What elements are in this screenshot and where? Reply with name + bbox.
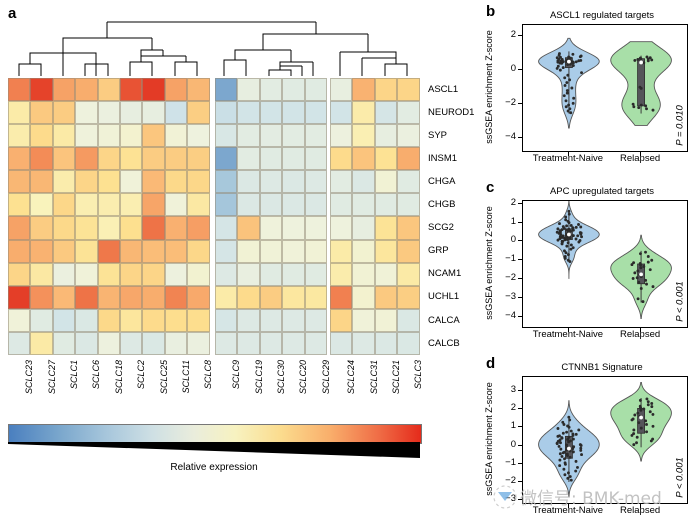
y-axis-tick-label: −2 (496, 273, 516, 283)
data-point (575, 60, 578, 63)
data-point (569, 236, 572, 239)
heatmap-cell (53, 309, 75, 332)
heatmap-cell (260, 193, 282, 216)
data-point (563, 76, 566, 79)
data-point (564, 84, 567, 87)
heatmap-column (75, 78, 97, 355)
data-point (565, 431, 568, 434)
data-point (579, 233, 582, 236)
heatmap-cell (375, 286, 397, 309)
data-point (567, 253, 570, 256)
data-point (565, 99, 568, 102)
data-point (569, 456, 572, 459)
data-point (576, 466, 579, 469)
data-point (556, 442, 559, 445)
data-point (632, 429, 635, 432)
y-axis-tick-label: 0 (496, 235, 516, 245)
colorbar-gradient (8, 424, 422, 444)
panel-b-pvalue: P = 0.010 (675, 96, 686, 156)
data-point (566, 453, 569, 456)
heatmap-cell (142, 309, 164, 332)
sample-label: SCLC1 (69, 360, 79, 389)
heatmap-cell (352, 309, 374, 332)
data-point (575, 433, 578, 436)
heatmap-cell (30, 101, 52, 124)
data-point (571, 433, 574, 436)
panel-c-ylabel: ssGSEA enrichment Z-score (484, 198, 494, 328)
heatmap-cell (282, 193, 304, 216)
heatmap-column (260, 78, 282, 355)
data-point (642, 408, 645, 411)
heatmap-cell (187, 332, 209, 355)
data-point (565, 443, 568, 446)
heatmap-cell (305, 309, 327, 332)
heatmap-cell (187, 263, 209, 286)
y-axis-tick-label: −1 (496, 254, 516, 264)
heatmap-cell (30, 147, 52, 170)
sample-label: SCLC23 (24, 360, 34, 394)
heatmap-cell (215, 240, 237, 263)
heatmap-cell (142, 78, 164, 101)
y-axis-tick (518, 240, 522, 241)
heatmap-cell (30, 332, 52, 355)
data-point (571, 53, 574, 56)
data-point (571, 447, 574, 450)
heatmap-cell (98, 332, 120, 355)
heatmap-cell (397, 124, 419, 147)
dendrogram (0, 10, 430, 78)
y-axis-tick-label: −2 (496, 476, 516, 486)
x-axis-tick (640, 504, 641, 508)
heatmap-cell (375, 101, 397, 124)
data-point (649, 410, 652, 413)
heatmap-cell (330, 216, 352, 239)
heatmap-cell (375, 170, 397, 193)
median-marker (567, 60, 571, 64)
heatmap-cell (165, 332, 187, 355)
heatmap-cell (260, 170, 282, 193)
heatmap-column (142, 78, 164, 355)
heatmap-cell (305, 332, 327, 355)
sample-label: SCLC21 (391, 360, 401, 394)
data-point (572, 438, 575, 441)
heatmap-cell (397, 216, 419, 239)
heatmap-cell (8, 263, 30, 286)
data-point (645, 283, 648, 286)
data-point (572, 61, 575, 64)
sample-label: SCLC6 (91, 360, 101, 389)
data-point (576, 234, 579, 237)
data-point (568, 418, 571, 421)
heatmap-cell (120, 332, 142, 355)
heatmap-cell (330, 78, 352, 101)
data-point (633, 414, 636, 417)
heatmap-cell (120, 216, 142, 239)
heatmap-cell (98, 286, 120, 309)
heatmap-cell (215, 170, 237, 193)
y-axis-tick-label: 1 (496, 421, 516, 431)
sample-label: SCLC11 (181, 360, 191, 393)
heatmap-cell (305, 147, 327, 170)
data-point (639, 263, 642, 266)
x-axis-tick (568, 152, 569, 156)
median-marker (567, 233, 571, 237)
y-axis-tick-label: 2 (496, 198, 516, 208)
y-axis-tick (518, 69, 522, 70)
data-point (563, 451, 566, 454)
sample-label: SCLC31 (369, 360, 379, 394)
heatmap-cell (187, 240, 209, 263)
data-point (579, 226, 582, 229)
sample-label: SCLC18 (114, 360, 124, 394)
heatmap-cell (330, 124, 352, 147)
heatmap-cell (375, 332, 397, 355)
colorbar-caption: Relative expression (8, 462, 420, 473)
heatmap-cell (165, 240, 187, 263)
data-point (580, 55, 583, 58)
heatmap-cell (120, 147, 142, 170)
heatmap-cell (375, 78, 397, 101)
heatmap-cell (397, 263, 419, 286)
heatmap-column (352, 78, 374, 355)
panel-d-violin: d CTNNB1 Signature ssGSEA enrichment Z-s… (480, 352, 694, 529)
heatmap-cell (330, 286, 352, 309)
heatmap-cell (75, 101, 97, 124)
heatmap-cell (98, 240, 120, 263)
heatmap-cell (215, 216, 237, 239)
heatmap-cell (237, 124, 259, 147)
sample-label: SCLC9 (231, 360, 241, 389)
heatmap-cell (120, 170, 142, 193)
heatmap-cell (305, 101, 327, 124)
heatmap-cell (375, 216, 397, 239)
heatmap-cell (397, 101, 419, 124)
heatmap-cell (165, 124, 187, 147)
y-axis-tick (518, 445, 522, 446)
median-marker (639, 61, 643, 65)
heatmap-cell (142, 216, 164, 239)
heatmap-cell (187, 309, 209, 332)
data-point (569, 475, 572, 478)
heatmap-cell (330, 193, 352, 216)
heatmap-cell (282, 263, 304, 286)
heatmap-cell (260, 240, 282, 263)
heatmap-cell (215, 193, 237, 216)
data-point (570, 244, 573, 247)
data-point (565, 81, 568, 84)
data-point (568, 78, 571, 81)
heatmap-cell (165, 286, 187, 309)
heatmap-cell (98, 193, 120, 216)
y-axis-tick (518, 35, 522, 36)
y-axis-tick (518, 390, 522, 391)
heatmap-cell (142, 240, 164, 263)
data-point (561, 455, 564, 458)
data-point (652, 285, 655, 288)
heatmap-cell (30, 286, 52, 309)
panel-c-violin: c APC upregulated targets ssGSEA enrichm… (480, 176, 694, 352)
data-point (637, 106, 640, 109)
heatmap-cell (8, 240, 30, 263)
heatmap-cell (282, 101, 304, 124)
heatmap-cell (215, 286, 237, 309)
heatmap-cell (237, 263, 259, 286)
data-point (567, 110, 570, 113)
heatmap-cell (53, 170, 75, 193)
data-point (562, 66, 565, 69)
heatmap-cell (260, 101, 282, 124)
heatmap-cell (352, 240, 374, 263)
data-point (647, 59, 650, 62)
panel-b-plot-area (522, 24, 688, 152)
data-point (566, 74, 569, 77)
data-point (572, 229, 575, 232)
heatmap-cell (305, 78, 327, 101)
heatmap-cell (53, 332, 75, 355)
panel-d-title: CTNNB1 Signature (510, 362, 694, 373)
heatmap-cell (75, 286, 97, 309)
panel-letter-d: d (486, 356, 495, 371)
heatmap-cell (397, 309, 419, 332)
heatmap-cell (215, 332, 237, 355)
sample-label: SCLC24 (346, 360, 356, 394)
y-axis-tick-label: 0 (496, 64, 516, 74)
panel-d-ylabel: ssGSEA enrichment Z-score (484, 374, 494, 504)
data-point (636, 276, 639, 279)
heatmap-cell (375, 193, 397, 216)
heatmap-cell (120, 263, 142, 286)
data-point (579, 59, 582, 62)
data-point (631, 418, 634, 421)
data-point (563, 94, 566, 97)
data-point (556, 67, 559, 70)
y-axis-tick-label: 1 (496, 217, 516, 227)
heatmap-cell (53, 147, 75, 170)
heatmap-cell (237, 170, 259, 193)
y-axis-tick (518, 103, 522, 104)
data-point (564, 216, 567, 219)
heatmap-cell (98, 101, 120, 124)
heatmap-cell (8, 170, 30, 193)
data-point (567, 416, 570, 419)
data-point (563, 457, 566, 460)
heatmap-cell (215, 309, 237, 332)
y-axis-tick-label: −4 (496, 311, 516, 321)
data-point (559, 452, 562, 455)
panel-c-violin-svg (523, 201, 687, 327)
data-point (644, 279, 647, 282)
data-point (566, 438, 569, 441)
panel-letter-b: b (486, 4, 495, 19)
sample-label: SCLC20 (298, 360, 308, 394)
data-point (633, 271, 636, 274)
y-axis-tick (518, 222, 522, 223)
data-point (639, 252, 642, 255)
data-point (559, 448, 562, 451)
x-axis-tick (568, 328, 569, 332)
y-axis-tick (518, 426, 522, 427)
y-axis-tick-label: −3 (496, 292, 516, 302)
data-point (563, 227, 566, 230)
heatmap-cell (142, 332, 164, 355)
heatmap-cell (282, 147, 304, 170)
data-point (642, 300, 645, 303)
heatmap-cell (330, 332, 352, 355)
panel-d-pvalue: P < 0.001 (675, 448, 686, 508)
data-point (575, 226, 578, 229)
heatmap-column (330, 78, 352, 355)
heatmap-column (397, 78, 419, 355)
y-axis-tick (518, 499, 522, 500)
data-point (639, 409, 642, 412)
heatmap-cell (237, 101, 259, 124)
data-point (645, 430, 648, 433)
y-axis-tick (518, 278, 522, 279)
heatmap-column (53, 78, 75, 355)
heatmap-cell (397, 170, 419, 193)
data-point (567, 241, 570, 244)
data-point (558, 445, 561, 448)
data-point (566, 89, 569, 92)
heatmap-cell (120, 101, 142, 124)
data-point (637, 297, 640, 300)
heatmap-cell (142, 193, 164, 216)
heatmap-column (282, 78, 304, 355)
data-point (632, 105, 635, 108)
heatmap-cell (330, 309, 352, 332)
heatmap-cell (8, 193, 30, 216)
heatmap-column (8, 78, 30, 355)
data-point (580, 444, 583, 447)
y-axis-tick-label: −3 (496, 494, 516, 504)
heatmap-cell (187, 193, 209, 216)
heatmap-cell (375, 147, 397, 170)
data-point (568, 260, 571, 263)
data-point (558, 459, 561, 462)
data-point (639, 266, 642, 269)
heatmap-cell (260, 332, 282, 355)
heatmap-cell (330, 240, 352, 263)
heatmap-cell (352, 263, 374, 286)
panel-c-title: APC upregulated targets (510, 186, 694, 197)
heatmap-cell (53, 124, 75, 147)
data-point (652, 109, 655, 112)
data-point (557, 427, 560, 430)
heatmap-cell (8, 78, 30, 101)
heatmap-cell (215, 101, 237, 124)
data-point (570, 479, 573, 482)
heatmap-cell (375, 124, 397, 147)
data-point (631, 263, 634, 266)
boxplot-box (638, 59, 645, 106)
heatmap-cell (120, 193, 142, 216)
data-point (565, 251, 568, 254)
data-point (647, 400, 650, 403)
heatmap-cell (187, 147, 209, 170)
heatmap-cell (397, 240, 419, 263)
heatmap-cell (282, 170, 304, 193)
heatmap-cell (352, 170, 374, 193)
data-point (572, 102, 575, 105)
heatmap-cell (282, 240, 304, 263)
colorbar-wedge (8, 442, 420, 458)
data-point (649, 268, 652, 271)
data-point (644, 251, 647, 254)
heatmap-cell (237, 332, 259, 355)
heatmap-cell (30, 240, 52, 263)
figure-root: a (0, 0, 694, 529)
heatmap-cell (305, 124, 327, 147)
panel-c-pvalue: P < 0.001 (675, 272, 686, 332)
data-point (633, 59, 636, 62)
heatmap-column (187, 78, 209, 355)
heatmap-cell (215, 78, 237, 101)
heatmap-cell (30, 216, 52, 239)
heatmap-cell (165, 101, 187, 124)
y-axis-tick (518, 463, 522, 464)
data-point (647, 403, 650, 406)
heatmap-cell (8, 332, 30, 355)
data-point (639, 57, 642, 60)
heatmap-cell (8, 286, 30, 309)
data-point (647, 261, 650, 264)
heatmap-cell (330, 101, 352, 124)
x-axis-tick (568, 504, 569, 508)
data-point (560, 62, 563, 65)
heatmap-cell (187, 78, 209, 101)
heatmap-cell (8, 309, 30, 332)
heatmap-cell (165, 216, 187, 239)
heatmap-cell (53, 78, 75, 101)
y-axis-tick-label: −1 (496, 458, 516, 468)
data-point (647, 255, 650, 258)
heatmap-column (98, 78, 120, 355)
data-point (644, 419, 647, 422)
heatmap-cell (75, 147, 97, 170)
median-marker (639, 272, 643, 276)
heatmap-cell (30, 170, 52, 193)
panel-a-heatmap: a (0, 0, 478, 529)
heatmap-cell (142, 286, 164, 309)
heatmap-column (215, 78, 237, 355)
data-point (631, 434, 634, 437)
heatmap-column (375, 78, 397, 355)
heatmap-cell (237, 147, 259, 170)
heatmap-cell (8, 101, 30, 124)
heatmap-cell (352, 147, 374, 170)
data-point (636, 412, 639, 415)
heatmap-cell (75, 263, 97, 286)
heatmap-cell (53, 193, 75, 216)
heatmap-cell (53, 263, 75, 286)
data-point (556, 56, 559, 59)
sample-label: SCLC8 (203, 360, 213, 389)
heatmap-cell (282, 286, 304, 309)
y-axis-tick (518, 137, 522, 138)
data-point (567, 104, 570, 107)
data-point (636, 436, 639, 439)
data-point (580, 71, 583, 74)
data-point (579, 449, 582, 452)
data-point (557, 239, 560, 242)
heatmap-cell (142, 124, 164, 147)
heatmap-cell (165, 170, 187, 193)
heatmap-column (237, 78, 259, 355)
sample-label: SCLC29 (321, 360, 331, 394)
heatmap-cell (75, 309, 97, 332)
heatmap-cell (142, 263, 164, 286)
panel-d-plot-area (522, 376, 688, 504)
